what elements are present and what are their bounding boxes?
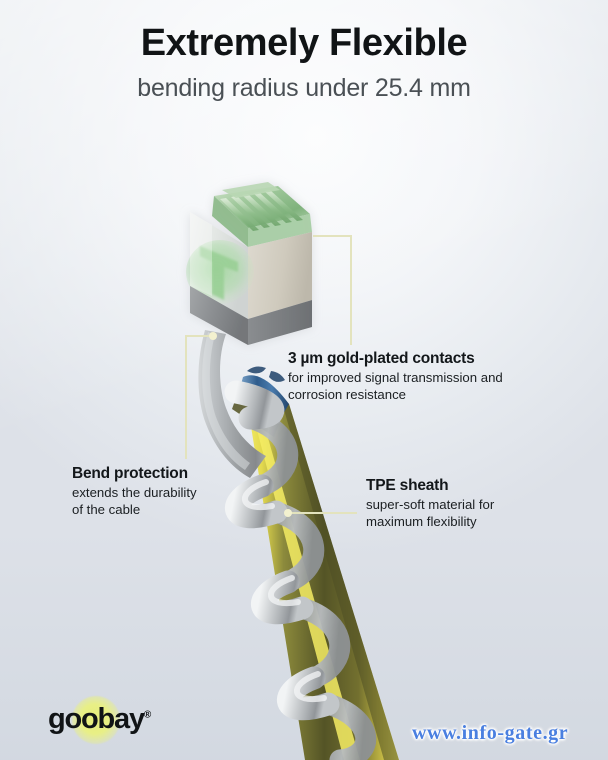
callout-title: TPE sheath — [366, 477, 494, 495]
callout-body: extends the durability of the cable — [72, 485, 197, 518]
leader-line-gold — [313, 236, 351, 345]
rj45-connector — [186, 182, 312, 345]
logo-text-before: g — [48, 703, 65, 735]
callout-tpe-sheath: TPE sheath super-soft material for maxim… — [366, 477, 494, 530]
logo-text-middle: oo — [65, 703, 98, 735]
logo-registered-mark: ® — [144, 709, 151, 720]
callout-gold-plated-contacts: 3 µm gold-plated contacts for improved s… — [288, 350, 503, 403]
callout-title: 3 µm gold-plated contacts — [288, 350, 503, 368]
poster-canvas: Extremely Flexible bending radius under … — [0, 0, 608, 760]
site-watermark: www.info-gate.gr — [412, 722, 568, 745]
logo-text-after: bay — [98, 703, 144, 735]
goobay-logo: goobay® — [48, 702, 178, 742]
callout-body: super-soft material for maximum flexibil… — [366, 497, 494, 530]
callout-bend-protection: Bend protection extends the durability o… — [72, 465, 197, 518]
callout-title: Bend protection — [72, 465, 197, 483]
callout-body: for improved signal transmission and cor… — [288, 370, 503, 403]
logo-wordmark: goobay® — [48, 703, 151, 736]
